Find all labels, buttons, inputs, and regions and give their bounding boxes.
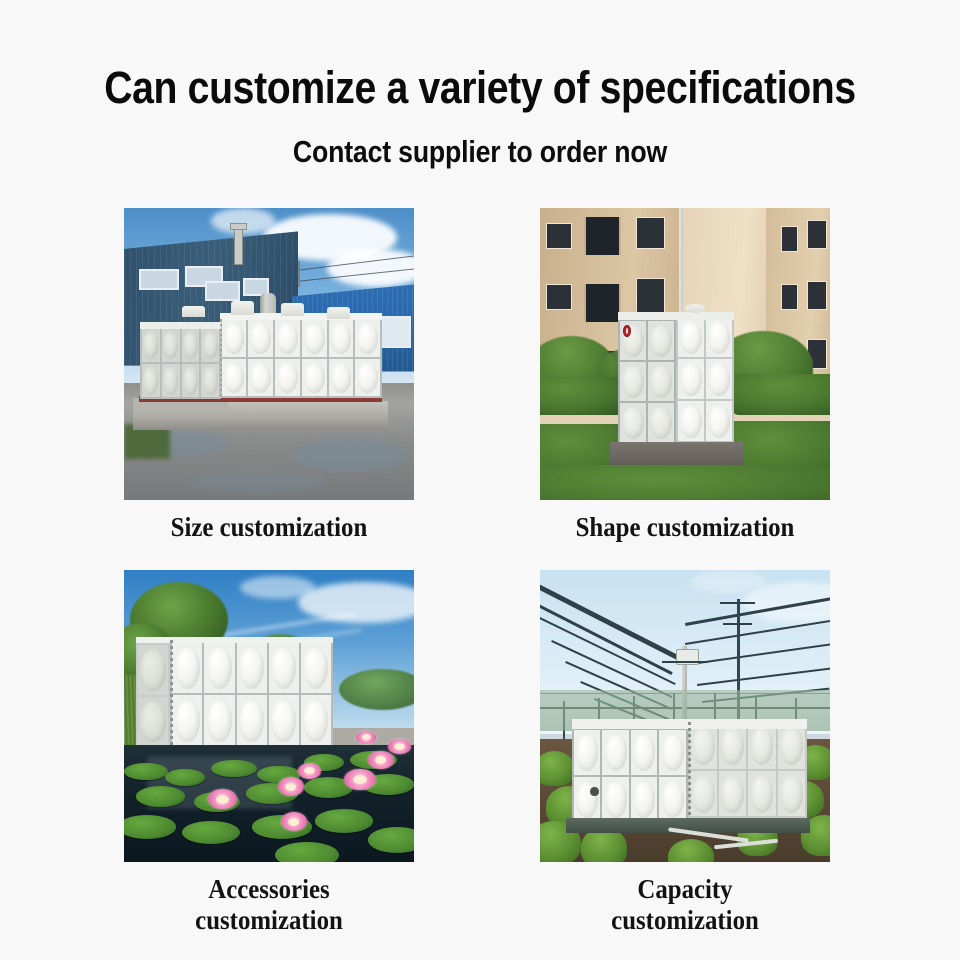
page-title: Can customize a variety of specification… bbox=[62, 62, 897, 114]
promo-page: Can customize a variety of specification… bbox=[0, 0, 960, 960]
page-subtitle: Contact supplier to order now bbox=[67, 134, 893, 170]
grid-row-1: Size customization bbox=[0, 208, 960, 570]
grid-row-2: Accessories customization bbox=[0, 570, 960, 932]
card-shape-customization[interactable]: Shape customization bbox=[540, 208, 830, 543]
card-accessories-customization[interactable]: Accessories customization bbox=[124, 570, 414, 936]
caption-accessories-customization: Accessories customization bbox=[136, 874, 403, 936]
photo-accessories-customization[interactable] bbox=[124, 570, 414, 862]
photo-shape-customization[interactable] bbox=[540, 208, 830, 500]
photo-size-customization[interactable] bbox=[124, 208, 414, 500]
caption-capacity-customization: Capacity customization bbox=[552, 874, 819, 936]
card-size-customization[interactable]: Size customization bbox=[124, 208, 414, 543]
card-capacity-customization[interactable]: Capacity customization bbox=[540, 570, 830, 936]
caption-size-customization: Size customization bbox=[136, 512, 403, 543]
customization-grid: Size customization bbox=[0, 208, 960, 932]
caption-shape-customization: Shape customization bbox=[552, 512, 819, 543]
photo-capacity-customization[interactable] bbox=[540, 570, 830, 862]
